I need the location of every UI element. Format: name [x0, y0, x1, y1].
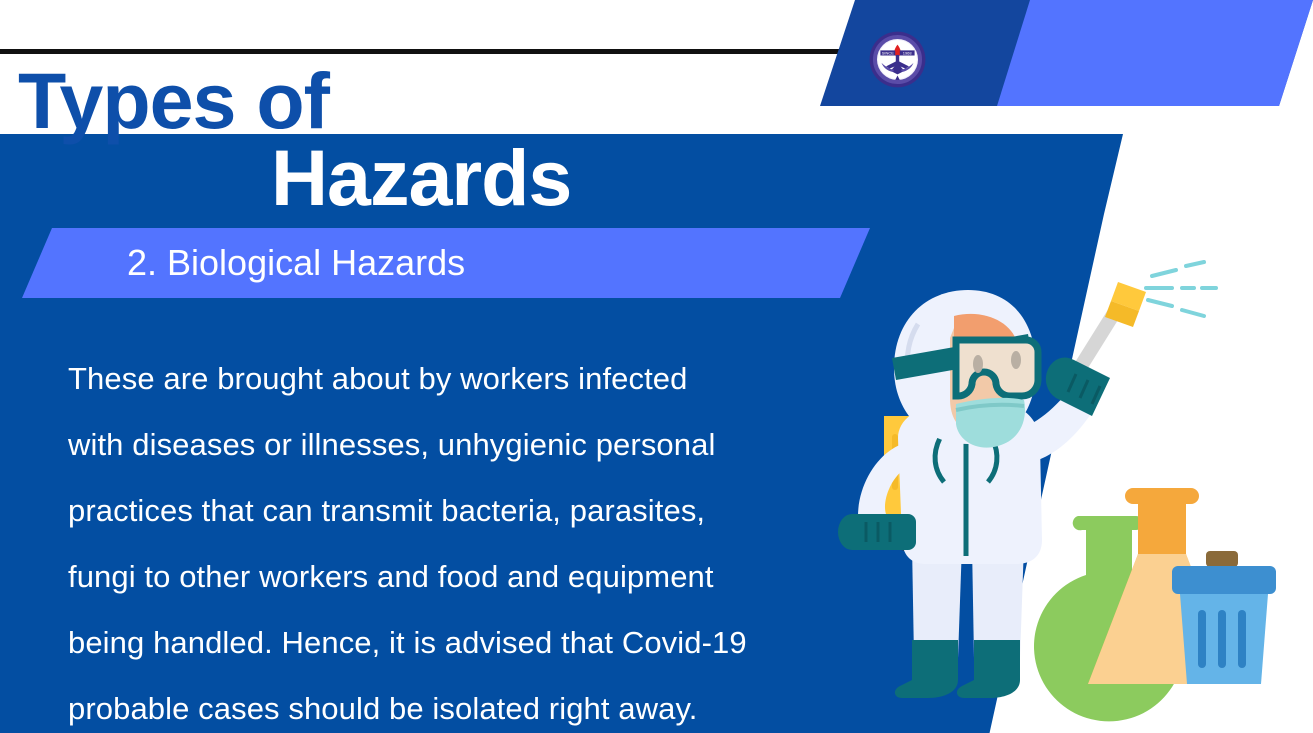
subtitle-banner: 2. Biological Hazards: [22, 228, 870, 298]
school-seal-icon: SINCE 1968: [869, 31, 926, 88]
body-line: practices that can transmit bacteria, pa…: [68, 478, 818, 544]
body-line: fungi to other workers and food and equi…: [68, 544, 818, 610]
spray-mist-icon: [1146, 262, 1216, 316]
slide-title-line-2: Hazards: [271, 132, 571, 224]
trash-bin-icon: [1172, 551, 1276, 684]
subtitle-text: 2. Biological Hazards: [127, 242, 465, 284]
slide-canvas: SINCE 1968 FERNANDO AIR BASE INTEGRATED …: [0, 0, 1313, 733]
body-paragraph: These are brought about by workers infec…: [68, 346, 818, 733]
body-line: These are brought about by workers infec…: [68, 346, 818, 412]
disinfection-worker-illustration: [820, 248, 1313, 733]
svg-text:SINCE: SINCE: [882, 50, 895, 55]
body-line: probable cases should be isolated right …: [68, 676, 818, 733]
body-line: with diseases or illnesses, unhygienic p…: [68, 412, 818, 478]
svg-text:1968: 1968: [903, 50, 913, 55]
body-line: being handled. Hence, it is advised that…: [68, 610, 818, 676]
